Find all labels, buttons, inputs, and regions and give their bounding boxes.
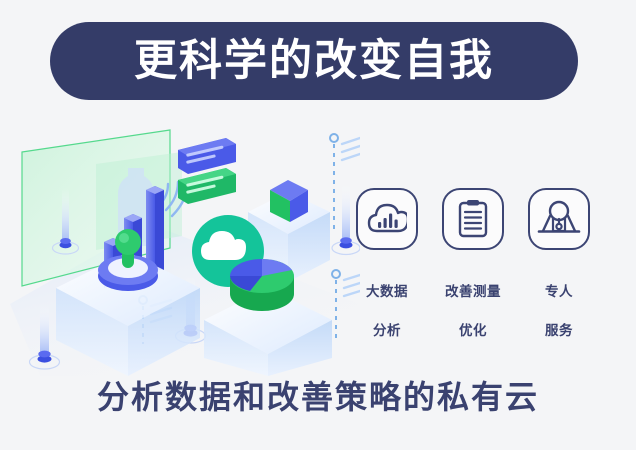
green-tag-card — [178, 168, 236, 204]
pie-chart — [230, 259, 294, 311]
blue-tag-card — [178, 138, 236, 174]
feature-label: 大数据 分析 — [366, 262, 408, 340]
feature-label-line1: 大数据 — [366, 284, 408, 299]
feature-label-line1: 专人 — [545, 284, 573, 299]
feature-label-line1: 改善测量 — [445, 284, 501, 299]
headline-banner: 更科学的改变自我 — [50, 22, 578, 100]
feature-label-line2: 服务 — [545, 323, 573, 338]
cloud-bar-chart-icon — [367, 201, 407, 237]
feature-label-line2: 优化 — [459, 323, 487, 338]
feature-big-data-analysis[interactable]: 大数据 分析 — [348, 188, 426, 340]
feature-badge — [442, 188, 504, 250]
clipboard-icon — [456, 199, 490, 239]
support-agent-icon — [537, 200, 581, 238]
feature-label: 改善测量 优化 — [445, 262, 501, 340]
feature-label: 专人 服务 — [545, 262, 573, 340]
tagline-text: 分析数据和改善策略的私有云 — [0, 380, 636, 415]
feature-badge — [528, 188, 590, 250]
feature-badge — [356, 188, 418, 250]
feature-list: 大数据 分析 改善测量 优化 — [348, 188, 600, 340]
feature-measure-optimize[interactable]: 改善测量 优化 — [434, 188, 512, 340]
headline-text: 更科学的改变自我 — [134, 40, 494, 83]
feature-personal-service[interactable]: 专人 服务 — [520, 188, 598, 340]
illustration-scene — [0, 108, 360, 376]
feature-label-line2: 分析 — [373, 323, 401, 338]
poster-canvas: 更科学的改变自我 — [0, 0, 636, 450]
